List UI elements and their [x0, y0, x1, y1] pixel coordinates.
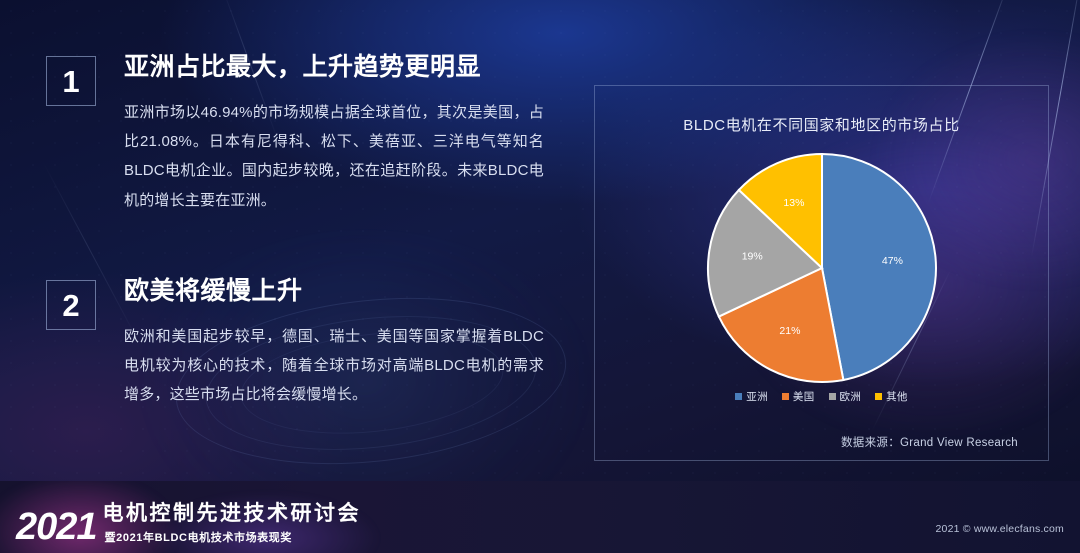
logo-main-title: 电机控制先进技术研讨会: [103, 502, 362, 526]
legend-swatch: [735, 393, 742, 400]
chart-title: BLDC电机在不同国家和地区的市场占比: [595, 114, 1048, 135]
footer-bar: 2021 电机控制先进技术研讨会 暨2021年BLDC电机技术市场表现奖 202…: [0, 481, 1080, 553]
legend-swatch: [829, 393, 836, 400]
section-headline-2: 欧美将缓慢上升: [124, 277, 544, 306]
legend-swatch: [875, 393, 882, 400]
chart-panel: BLDC电机在不同国家和地区的市场占比 47%21%19%13% 亚洲美国欧洲其…: [594, 85, 1049, 461]
legend-label: 其他: [886, 389, 908, 404]
slide-root: 1 亚洲占比最大，上升趋势更明显 亚洲市场以46.94%的市场规模占据全球首位，…: [0, 0, 1080, 553]
footer-copyright: 2021 © www.elecfans.com: [936, 523, 1064, 535]
legend-item: 美国: [782, 389, 815, 404]
pie-slice-label: 47%: [881, 255, 902, 267]
legend-item: 其他: [875, 389, 908, 404]
section-block-1: 1 亚洲占比最大，上升趋势更明显 亚洲市场以46.94%的市场规模占据全球首位，…: [46, 53, 544, 215]
pie-slice: [822, 154, 936, 380]
event-logo: 2021 电机控制先进技术研讨会 暨2021年BLDC电机技术市场表现奖: [16, 502, 361, 548]
pie-slice-label: 21%: [779, 325, 800, 337]
pie-chart: 47%21%19%13%: [706, 152, 938, 384]
section-number-badge-1: 1: [46, 56, 96, 106]
logo-text-group: 电机控制先进技术研讨会 暨2021年BLDC电机技术市场表现奖: [103, 502, 362, 545]
legend-label: 亚洲: [746, 389, 768, 404]
legend-swatch: [782, 393, 789, 400]
legend-item: 欧洲: [829, 389, 862, 404]
logo-year: 2021: [16, 508, 97, 546]
pie-slice-label: 13%: [783, 197, 804, 209]
legend-item: 亚洲: [735, 389, 768, 404]
section-body-1: 亚洲市场以46.94%的市场规模占据全球首位，其次是美国，占比21.08%。日本…: [124, 98, 544, 215]
content-column: 1 亚洲占比最大，上升趋势更明显 亚洲市场以46.94%的市场规模占据全球首位，…: [0, 0, 585, 470]
section-body-2: 欧洲和美国起步较早，德国、瑞士、美国等国家掌握着BLDC电机较为核心的技术，随着…: [124, 322, 544, 410]
pie-chart-svg: 47%21%19%13%: [706, 152, 938, 384]
logo-subtitle: 暨2021年BLDC电机技术市场表现奖: [103, 529, 362, 545]
section-headline-1: 亚洲占比最大，上升趋势更明显: [124, 53, 544, 82]
chart-source-note: 数据来源：Grand View Research: [841, 434, 1018, 450]
pie-slice-label: 19%: [741, 251, 762, 263]
legend-label: 美国: [793, 389, 815, 404]
chart-legend: 亚洲美国欧洲其他: [595, 389, 1048, 404]
section-number-badge-2: 2: [46, 280, 96, 330]
section-block-2: 2 欧美将缓慢上升 欧洲和美国起步较早，德国、瑞士、美国等国家掌握着BLDC电机…: [46, 277, 544, 410]
legend-label: 欧洲: [840, 389, 862, 404]
